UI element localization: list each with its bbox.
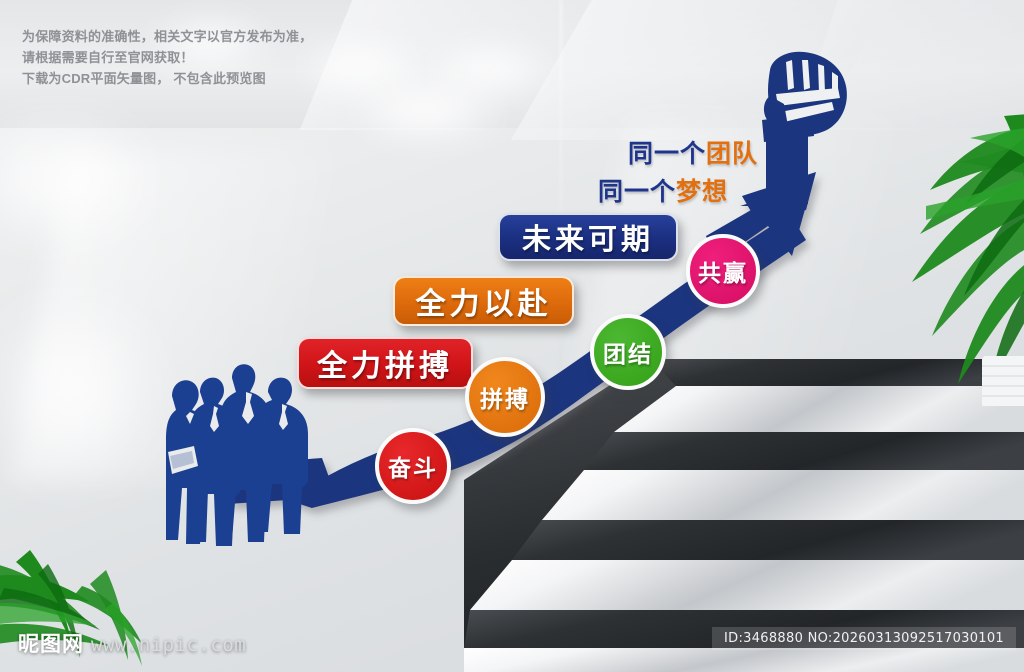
wall-mural-preview: 全力拼搏 全力以赴 未来可期 奋斗 拼搏 团结 共赢 同一个团队 同一个梦想 为… xyxy=(0,0,1024,672)
circle-gongying[interactable]: 共赢 xyxy=(686,234,760,308)
circle-fendou[interactable]: 奋斗 xyxy=(375,428,451,504)
slogan-line-2: 同一个梦想 xyxy=(598,172,728,208)
slogan-line1-accent: 团队 xyxy=(706,140,758,168)
circle-label: 团结 xyxy=(603,335,653,369)
circle-label: 奋斗 xyxy=(388,449,438,483)
watermark-line: 下载为CDR平面矢量图， 不包含此预览图 xyxy=(22,68,312,89)
watermark-line: 为保障资料的准确性，相关文字以官方发布为准， xyxy=(22,26,312,47)
watermark-line: 请根据需要自行至官网获取！ xyxy=(22,47,312,68)
circle-label: 拼搏 xyxy=(480,380,530,414)
plaque-label: 未来可期 xyxy=(522,216,654,258)
watermark-notice: 为保障资料的准确性，相关文字以官方发布为准， 请根据需要自行至官网获取！ 下载为… xyxy=(22,26,312,89)
slogan-line2-accent: 梦想 xyxy=(676,178,728,206)
plaque-quanli-pinbo[interactable]: 全力拼搏 xyxy=(297,337,473,389)
slogan-line2-prefix: 同一个 xyxy=(598,178,676,206)
raised-fist-icon xyxy=(746,44,856,204)
site-logo: 昵图网 www.nipic.com xyxy=(18,628,246,658)
palm-plant xyxy=(900,86,1024,406)
slogan-line-1: 同一个团队 xyxy=(628,134,758,170)
ceiling-light-icon xyxy=(352,80,502,142)
plaque-quanli-yifu[interactable]: 全力以赴 xyxy=(393,276,574,326)
circle-pinbo[interactable]: 拼搏 xyxy=(465,357,545,437)
plaque-label: 全力拼搏 xyxy=(317,341,453,385)
circle-label: 共赢 xyxy=(698,254,748,288)
business-team-silhouette xyxy=(160,364,310,550)
wall-glow xyxy=(0,300,150,480)
slogan-line1-prefix: 同一个 xyxy=(628,140,706,168)
circle-tuanjie[interactable]: 团结 xyxy=(590,314,666,390)
site-logo-url: www.nipic.com xyxy=(91,634,246,656)
plaque-label: 全力以赴 xyxy=(416,279,552,323)
image-id-badge: ID:3468880 NO:20260313092517030101 xyxy=(712,627,1016,650)
plaque-weilai-keqi[interactable]: 未来可期 xyxy=(498,213,678,261)
site-logo-cn: 昵图网 xyxy=(18,628,84,658)
